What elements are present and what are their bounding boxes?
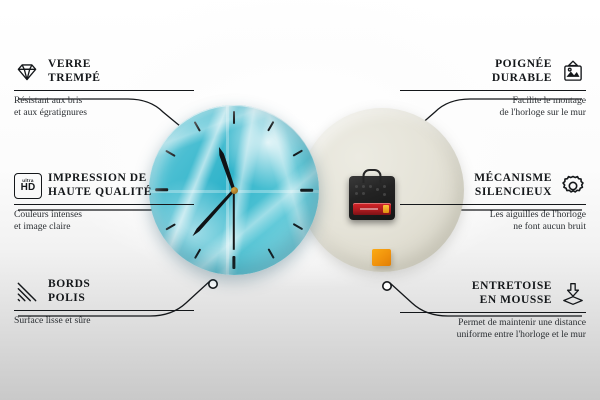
gear-icon bbox=[560, 173, 586, 199]
feature-description: Les aiguilles de l'horloge ne font aucun… bbox=[400, 209, 586, 232]
second-hand bbox=[233, 190, 235, 250]
feature-bords-polis: BORDS POLIS Surface lisse et sûre bbox=[14, 278, 194, 327]
feature-title: IMPRESSION DE HAUTE QUALITÉ bbox=[48, 172, 152, 199]
feature-entretoise-en-mousse: ENTRETOISE EN MOUSSE Permet de maintenir… bbox=[400, 280, 586, 341]
divider bbox=[14, 90, 194, 91]
clock-mechanism bbox=[349, 176, 395, 220]
divider bbox=[14, 310, 194, 311]
divider bbox=[14, 204, 194, 205]
battery bbox=[353, 203, 391, 215]
infographic-canvas: VERRE TREMPÉ Résistant aux bris et aux é… bbox=[0, 0, 600, 400]
ultra-hd-large-text: HD bbox=[21, 183, 36, 193]
feature-title: ENTRETOISE EN MOUSSE bbox=[472, 280, 552, 307]
feature-title: BORDS POLIS bbox=[48, 278, 90, 305]
polished-edge-icon bbox=[14, 279, 40, 305]
feature-description: Permet de maintenir une distance uniform… bbox=[400, 317, 586, 340]
feature-impression-haute-qualite: ultra HD IMPRESSION DE HAUTE QUALITÉ Cou… bbox=[14, 172, 194, 233]
foam-spacer bbox=[372, 249, 391, 266]
minute-hand bbox=[191, 189, 235, 238]
hanging-frame-icon bbox=[560, 59, 586, 85]
ultra-hd-icon: ultra HD bbox=[14, 173, 40, 199]
clock-hub bbox=[231, 187, 238, 194]
battery-label bbox=[360, 208, 378, 210]
foam-spacer-icon bbox=[560, 281, 586, 307]
feature-title: VERRE TREMPÉ bbox=[48, 58, 101, 85]
feature-description: Facilite le montage de l'horloge sur le … bbox=[400, 95, 586, 118]
feature-description: Couleurs intenses et image claire bbox=[14, 209, 194, 232]
feature-description: Résistant aux bris et aux égratignures bbox=[14, 95, 194, 118]
hour-hand bbox=[217, 146, 237, 191]
divider bbox=[400, 204, 586, 205]
hanging-loop-icon bbox=[363, 169, 382, 183]
feature-poignee-durable: POIGNÉE DURABLE Facilite le montage de l… bbox=[400, 58, 586, 119]
mechanism-details bbox=[353, 183, 391, 199]
feature-description: Surface lisse et sûre bbox=[14, 315, 194, 327]
diamond-icon bbox=[14, 59, 40, 85]
divider bbox=[400, 90, 586, 91]
feature-verre-trempe: VERRE TREMPÉ Résistant aux bris et aux é… bbox=[14, 58, 194, 119]
feature-title: POIGNÉE DURABLE bbox=[492, 58, 552, 85]
feature-title: MÉCANISME SILENCIEUX bbox=[474, 172, 552, 199]
feature-mecanisme-silencieux: MÉCANISME SILENCIEUX Les aiguilles de l'… bbox=[400, 172, 586, 233]
divider bbox=[400, 312, 586, 313]
